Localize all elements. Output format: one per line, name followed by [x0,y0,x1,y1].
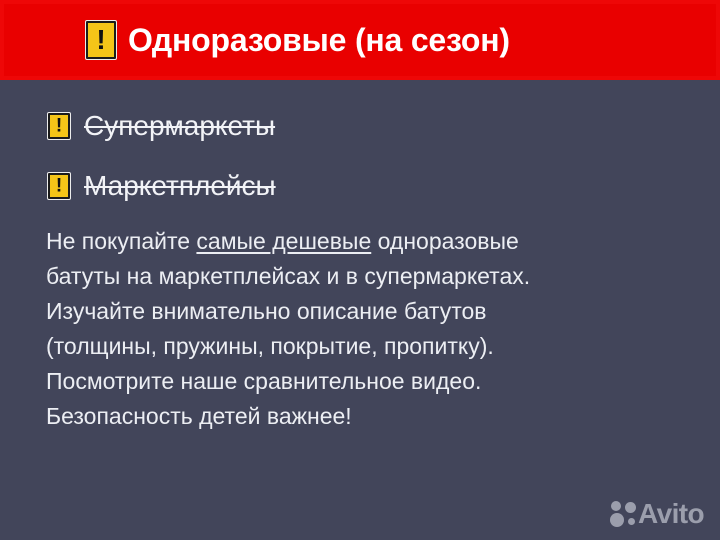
warning-exclamation-icon: ! [48,113,70,139]
avito-logo-dot-top-left [611,501,621,511]
avito-logo-dot-large [610,513,624,527]
excluded-sellers-list: ! Супермаркеты ! Маркетплейсы [48,104,668,208]
warning-exclamation-icon: ! [86,21,116,59]
list-item-label: Супермаркеты [84,112,275,140]
warning-icon-glyph: ! [88,26,114,54]
avito-logo-dots-icon [610,501,636,527]
list-item: ! Супермаркеты [48,104,668,148]
paragraph-line: Изучайте внимательно описание батутов [46,294,686,329]
line-text-post: одноразовые [371,228,519,254]
warning-icon-glyph: ! [50,177,68,196]
header-banner: ! Одноразовые (на сезон) [0,0,720,80]
list-item-label: Маркетплейсы [84,172,276,200]
page-title: Одноразовые (на сезон) [128,24,510,56]
avito-logo-dot-top-right [625,502,636,513]
line-text-pre: Не покупайте [46,228,196,254]
emphasis-underlined-text: самые дешевые [196,228,371,254]
list-item: ! Маркетплейсы [48,164,668,208]
paragraph-line: (толщины, пружины, покрытие, пропитку). [46,329,686,364]
avito-logo-dot-small [628,518,635,525]
warning-icon-glyph: ! [50,117,68,136]
advice-paragraph: Не покупайте самые дешевые одноразовые б… [46,224,686,434]
paragraph-line: Посмотрите наше сравнительное видео. [46,364,686,399]
paragraph-line: Не покупайте самые дешевые одноразовые [46,224,686,259]
avito-watermark: Avito [610,500,704,528]
warning-exclamation-icon: ! [48,173,70,199]
promo-slide: ! Одноразовые (на сезон) ! Супермаркеты … [0,0,720,540]
avito-wordmark: Avito [638,500,704,528]
paragraph-line: Безопасность детей важнее! [46,399,686,434]
paragraph-line: батуты на маркетплейсах и в супермаркета… [46,259,686,294]
